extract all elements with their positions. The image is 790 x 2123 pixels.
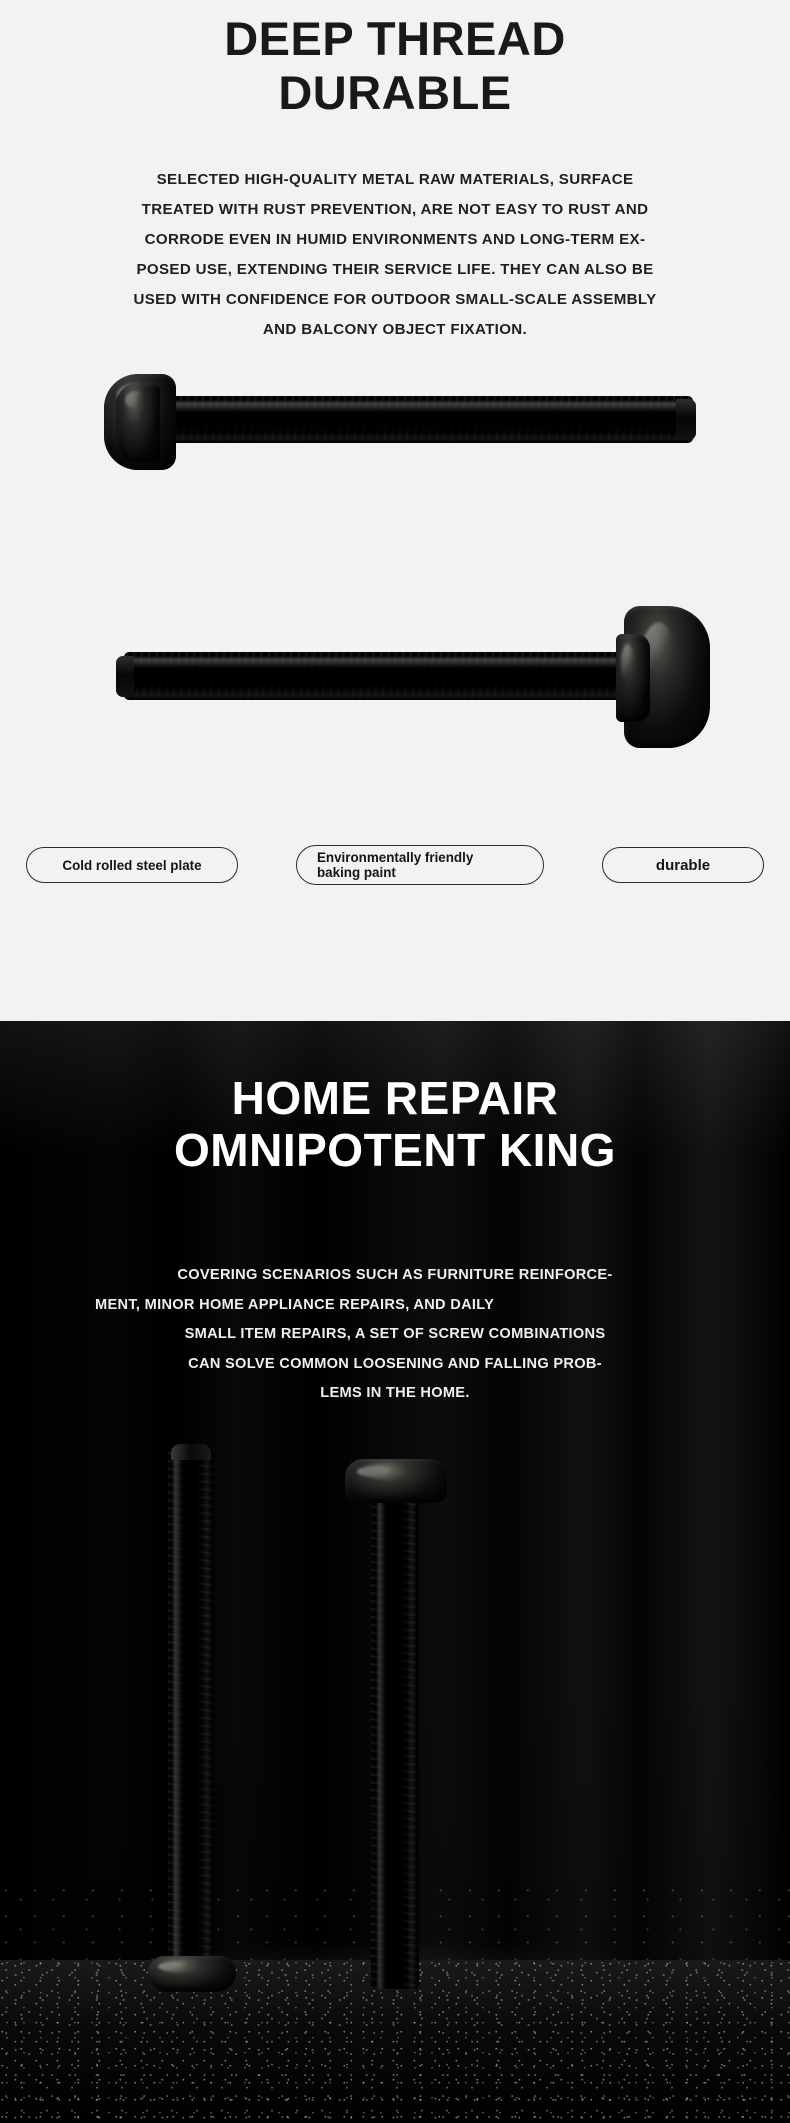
section-two-paragraph-line-5: LEMS IN THE HOME. — [95, 1379, 695, 1409]
section-two-paragraph-line-2: MENT, MINOR HOME APPLIANCE REPAIRS, AND … — [95, 1291, 695, 1321]
section-two-heading-line-2: OMNIPOTENT KING — [0, 1125, 790, 1177]
section-two-paragraph-line-2-text: MENT, MINOR HOME APPLIANCE REPAIRS, AND … — [95, 1291, 494, 1321]
section-two-heading: HOME REPAIR OMNIPOTENT KING — [0, 1073, 790, 1177]
screw-head — [345, 1459, 447, 1503]
product-image-standing-screw-head-up-right — [0, 0, 790, 2123]
section-two-paragraph: COVERING SCENARIOS SUCH AS FURNITURE REI… — [95, 1261, 695, 1409]
product-detail-page: DEEP THREAD DURABLE SELECTED HIGH-QUALIT… — [0, 0, 790, 2123]
screw-head-glint — [357, 1465, 413, 1478]
section-two-paragraph-line-1: COVERING SCENARIOS SUCH AS FURNITURE REI… — [95, 1261, 695, 1291]
section-two-paragraph-line-3: SMALL ITEM REPAIRS, A SET OF SCREW COMBI… — [95, 1320, 695, 1350]
section-two-heading-line-1: HOME REPAIR — [0, 1073, 790, 1125]
screw-shaft — [371, 1494, 419, 1989]
section-two-paragraph-line-4: CAN SOLVE COMMON LOOSENING AND FALLING P… — [95, 1350, 695, 1380]
